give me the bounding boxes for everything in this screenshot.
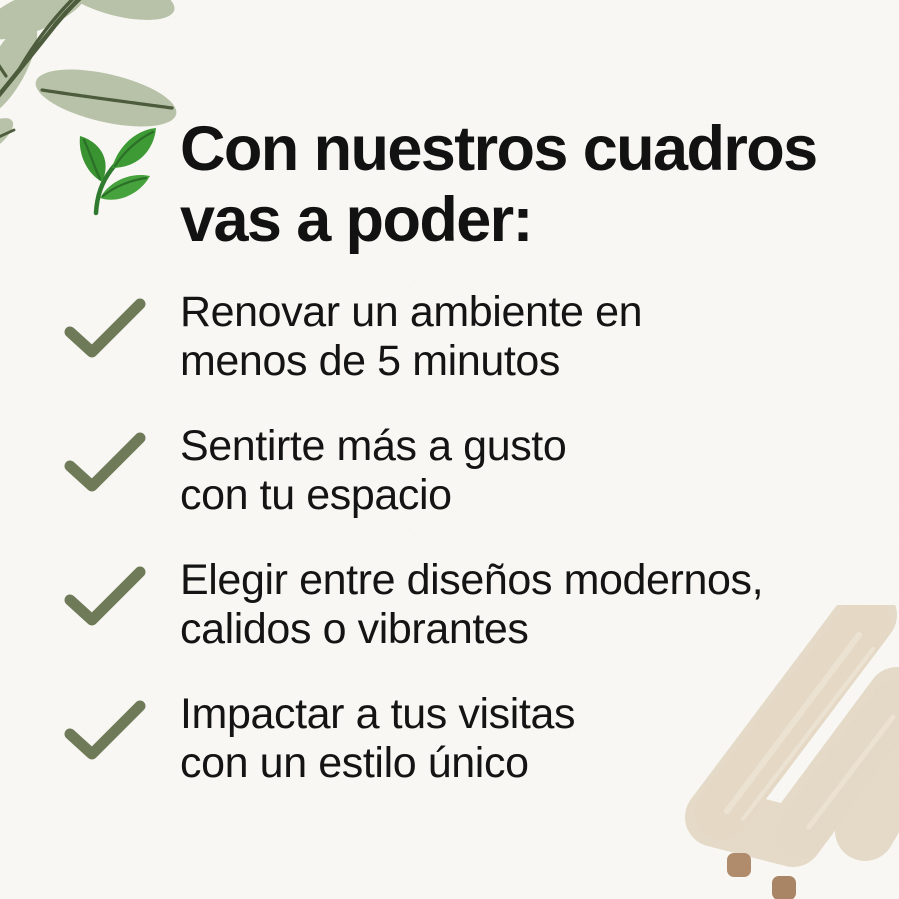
check-icon [60, 564, 152, 630]
heading-block: Con nuestros cuadros vas a poder: [60, 112, 880, 255]
check-icon [60, 430, 152, 496]
page-title: Con nuestros cuadros vas a poder: [180, 114, 817, 255]
list-item-label: Impactar a tus visitas con un estilo úni… [180, 690, 575, 787]
list-item-label: Renovar un ambiente en menos de 5 minuto… [180, 288, 642, 385]
list-item: Sentirte más a gusto con tu espacio [60, 422, 895, 519]
check-icon [60, 296, 152, 362]
list-item: Impactar a tus visitas con un estilo úni… [60, 690, 895, 787]
herb-sprig-icon [62, 120, 162, 220]
list-item: Elegir entre diseños modernos, calidos o… [60, 556, 895, 653]
square-dot-decoration [772, 876, 796, 899]
square-dot-decoration [727, 853, 751, 877]
benefits-list: Renovar un ambiente en menos de 5 minuto… [60, 288, 895, 788]
list-item: Renovar un ambiente en menos de 5 minuto… [60, 288, 895, 385]
list-item-label: Sentirte más a gusto con tu espacio [180, 422, 566, 519]
poster-canvas: Con nuestros cuadros vas a poder: Renova… [0, 0, 899, 899]
check-icon [60, 698, 152, 764]
list-item-label: Elegir entre diseños modernos, calidos o… [180, 556, 763, 653]
